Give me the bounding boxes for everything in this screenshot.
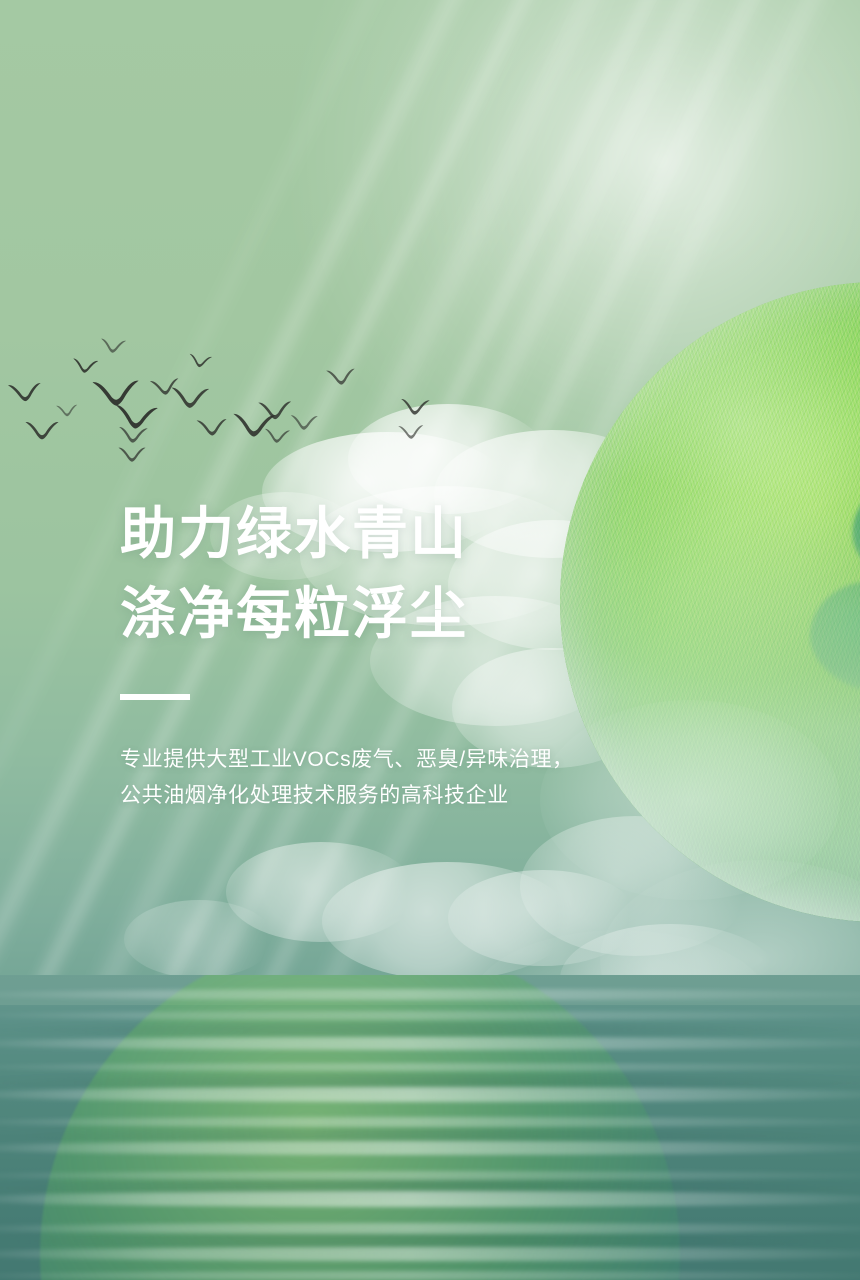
eco-poster: 助力绿水青山 涤净每粒浮尘 专业提供大型工业VOCs废气、恶臭/异味治理， 公共… bbox=[0, 0, 860, 1280]
subtitle-line-1: 专业提供大型工业VOCs废气、恶臭/异味治理， bbox=[120, 742, 660, 778]
hero-copy-block: 助力绿水青山 涤净每粒浮尘 专业提供大型工业VOCs废气、恶臭/异味治理， 公共… bbox=[120, 494, 660, 814]
water-ripple bbox=[0, 1037, 860, 1050]
headline-line-2: 涤净每粒浮尘 bbox=[120, 574, 660, 654]
water-ripple bbox=[0, 1087, 860, 1102]
water-ripple bbox=[0, 1011, 860, 1020]
water-ripple bbox=[0, 1171, 860, 1180]
water-ripple bbox=[0, 1223, 860, 1234]
water-ripple bbox=[0, 1141, 860, 1155]
water-ripple bbox=[0, 1247, 860, 1261]
water-ripple bbox=[0, 1271, 860, 1280]
water-ripple bbox=[0, 1191, 860, 1207]
water-ripple bbox=[0, 1063, 860, 1071]
water-ripple bbox=[0, 989, 860, 1000]
water-ripple bbox=[0, 1117, 860, 1127]
subtitle-line-2: 公共油烟净化处理技术服务的高科技企业 bbox=[120, 778, 660, 814]
white-rule-divider bbox=[120, 694, 190, 700]
headline-line-1: 助力绿水青山 bbox=[120, 494, 660, 574]
water-dark-ripple bbox=[0, 1023, 860, 1037]
reflective-water-surface bbox=[0, 975, 860, 1280]
